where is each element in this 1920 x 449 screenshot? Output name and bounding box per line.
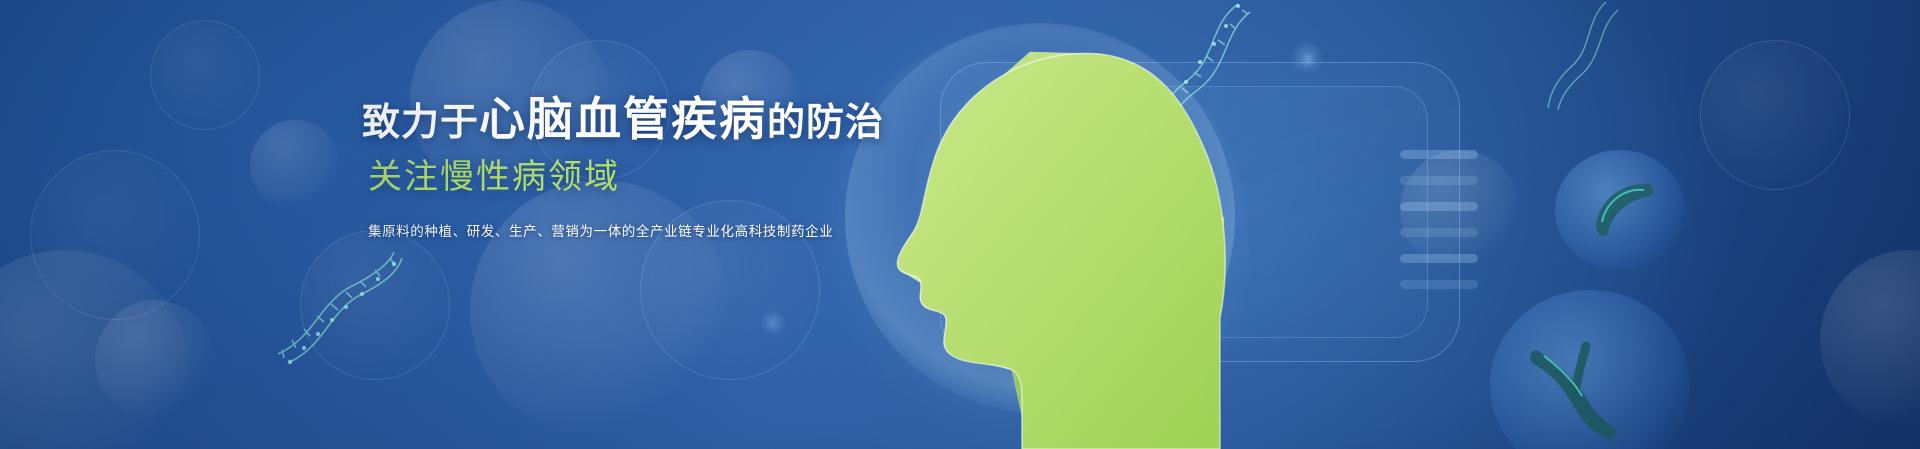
bokeh-circle <box>30 150 200 320</box>
bacteria-icon <box>1578 168 1668 248</box>
dna-helix-top-right-icon <box>1540 0 1630 110</box>
bokeh-dot <box>760 310 786 336</box>
hud-bar <box>1400 254 1478 263</box>
bokeh-circle <box>250 120 340 210</box>
bokeh-circle <box>0 250 190 449</box>
bokeh-circle <box>150 20 260 130</box>
tagline: 集原料的种植、研发、生产、营销为一体的全产业链专业化高科技制药企业 <box>368 222 982 242</box>
bacteria-icon <box>1520 330 1650 449</box>
hero-banner: 致力于心脑血管疾病的防治 关注慢性病领域 集原料的种植、研发、生产、营销为一体的… <box>0 0 1920 449</box>
page-title: 致力于心脑血管疾病的防治 <box>362 96 982 146</box>
hud-bar <box>1400 202 1478 211</box>
bokeh-circle <box>95 300 215 420</box>
hud-bar <box>1400 150 1478 159</box>
hud-bar <box>1400 280 1478 289</box>
headline-emphasis: 心脑血管疾病 <box>479 93 767 145</box>
headline-prefix: 致力于 <box>362 102 479 144</box>
bokeh-circle <box>1700 40 1850 190</box>
hud-bar <box>1400 228 1478 237</box>
dna-helix-left-icon <box>270 250 410 370</box>
headline-suffix: 的防治 <box>767 102 884 144</box>
banner-copy: 致力于心脑血管疾病的防治 关注慢性病领域 集原料的种植、研发、生产、营销为一体的… <box>362 96 982 242</box>
hud-bar <box>1400 176 1478 185</box>
page-subtitle: 关注慢性病领域 <box>368 156 982 198</box>
bokeh-circle <box>1820 250 1920 430</box>
